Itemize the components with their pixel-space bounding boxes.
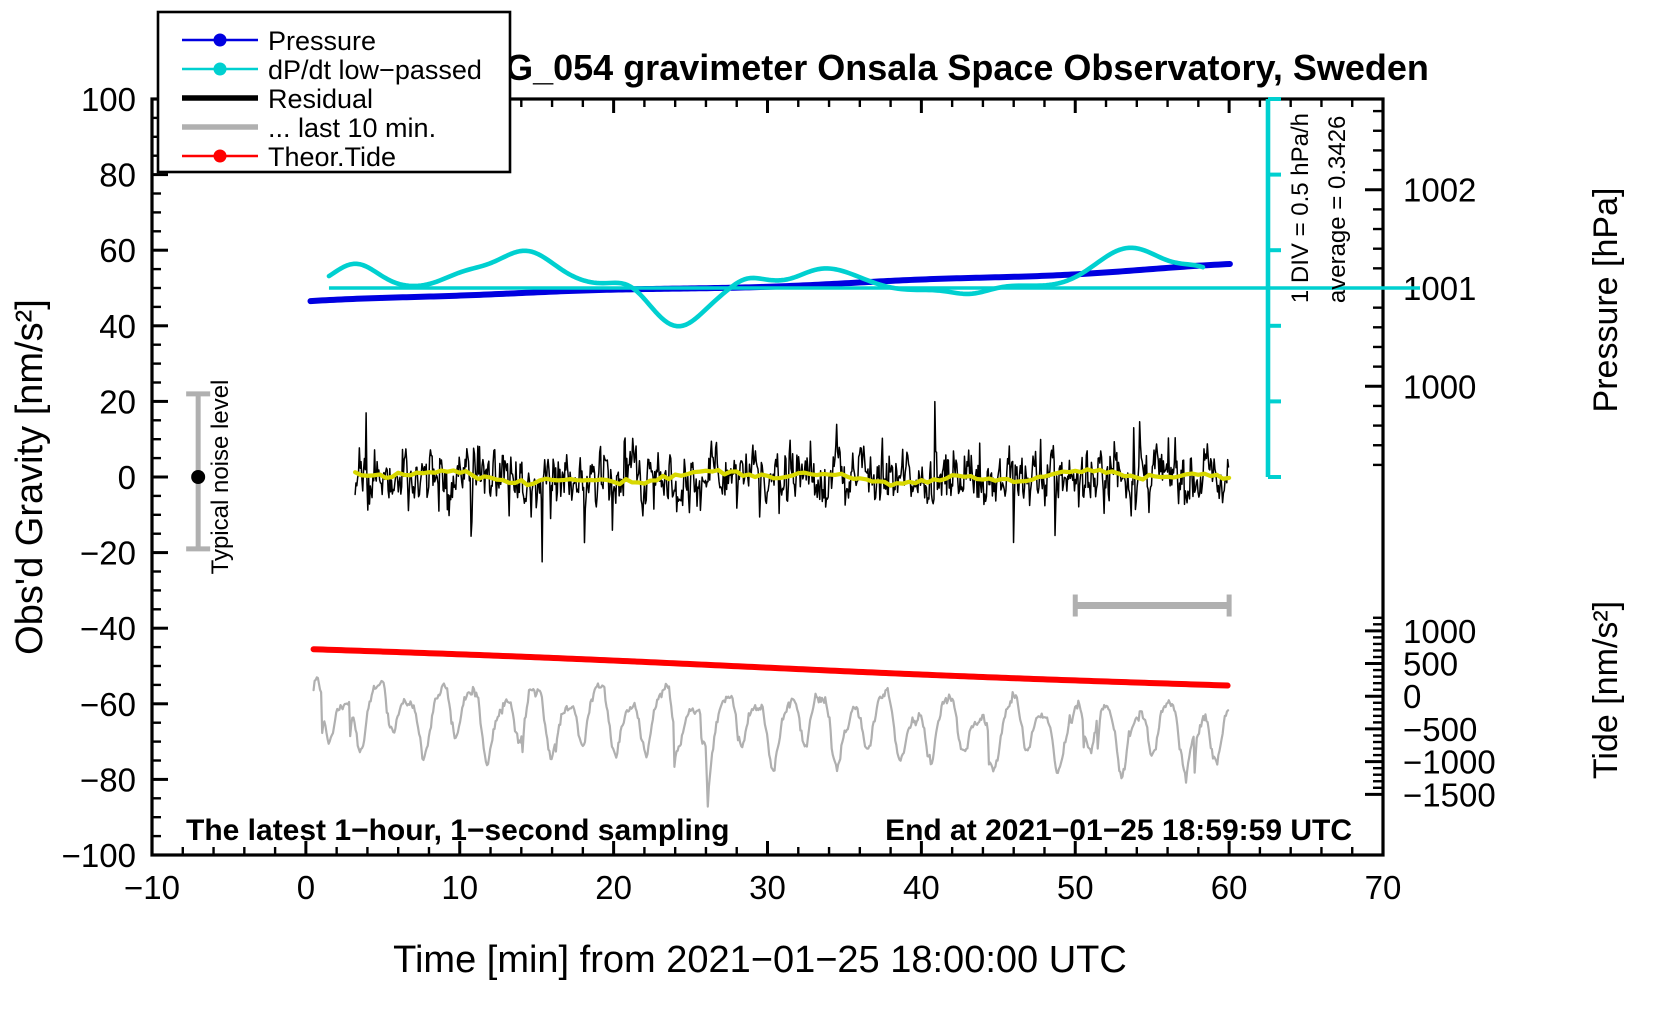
y-tick-label: 100 xyxy=(81,81,136,118)
tide-tick-label: −500 xyxy=(1403,711,1477,748)
x-tick-label: −10 xyxy=(124,869,180,906)
gravimeter-plot: −10010203040506070100806040200−20−40−60−… xyxy=(0,0,1660,1020)
x-tick-label: 70 xyxy=(1365,869,1402,906)
tide-tick-label: 0 xyxy=(1403,678,1421,715)
x-axis-label: Time [min] from 2021−01−25 18:00:00 UTC xyxy=(393,939,1127,981)
y-tick-label: 80 xyxy=(99,157,136,194)
y-tick-label: 60 xyxy=(99,232,136,269)
y-tick-label: −100 xyxy=(62,837,136,874)
legend-item-label: Theor.Tide xyxy=(268,142,396,172)
footer-right-label: End at 2021−01−25 18:59:59 UTC xyxy=(885,814,1352,847)
pressure-tick-label: 1000 xyxy=(1403,368,1476,405)
y-tick-label: −20 xyxy=(80,535,136,572)
legend-item-label: dP/dt low−passed xyxy=(268,55,482,85)
legend-swatch-marker xyxy=(214,34,227,47)
x-tick-label: 10 xyxy=(441,869,478,906)
scalebar-average-label: average = 0.3426 xyxy=(1324,116,1351,304)
y-tick-label: 0 xyxy=(118,459,136,496)
y-tick-label: −60 xyxy=(80,686,136,723)
y-tick-label: −40 xyxy=(80,610,136,647)
typical-noise-level-label: Typical noise level xyxy=(207,380,234,575)
legend[interactable]: PressuredP/dt low−passedResidual... last… xyxy=(158,12,510,172)
pressure-tick-label: 1002 xyxy=(1403,172,1476,209)
legend-swatch-marker xyxy=(214,150,227,163)
x-tick-label: 20 xyxy=(595,869,632,906)
page-title: SCG_054 gravimeter Onsala Space Observat… xyxy=(455,47,1429,88)
y-axis-label: Obs'd Gravity [nm/s²] xyxy=(9,299,51,655)
x-tick-label: 40 xyxy=(903,869,940,906)
y-tick-label: 20 xyxy=(99,383,136,420)
x-tick-label: 30 xyxy=(749,869,786,906)
legend-item-label: Pressure xyxy=(268,26,376,56)
tide-tick-label: −1500 xyxy=(1403,776,1496,813)
legend-item-label: Residual xyxy=(268,84,373,114)
x-tick-label: 60 xyxy=(1211,869,1248,906)
footer-left-label: The latest 1−hour, 1−second sampling xyxy=(186,814,730,847)
scalebar-div-label: 1 DIV = 0.5 hPa/h xyxy=(1287,113,1314,303)
y-tick-label: 40 xyxy=(99,308,136,345)
y-tick-label: −80 xyxy=(80,761,136,798)
tide-tick-label: 500 xyxy=(1403,646,1458,683)
y-axis-label-pressure: Pressure [hPa] xyxy=(1587,188,1625,413)
y-axis-label-tide: Tide [nm/s²] xyxy=(1587,601,1625,779)
legend-item-label: ... last 10 min. xyxy=(268,113,436,143)
legend-swatch-marker xyxy=(214,63,227,76)
x-tick-label: 50 xyxy=(1057,869,1094,906)
x-tick-label: 0 xyxy=(297,869,315,906)
tide-tick-label: 1000 xyxy=(1403,613,1476,650)
plot-root: −10010203040506070100806040200−20−40−60−… xyxy=(0,0,1660,1020)
tide-tick-label: −1000 xyxy=(1403,744,1496,781)
